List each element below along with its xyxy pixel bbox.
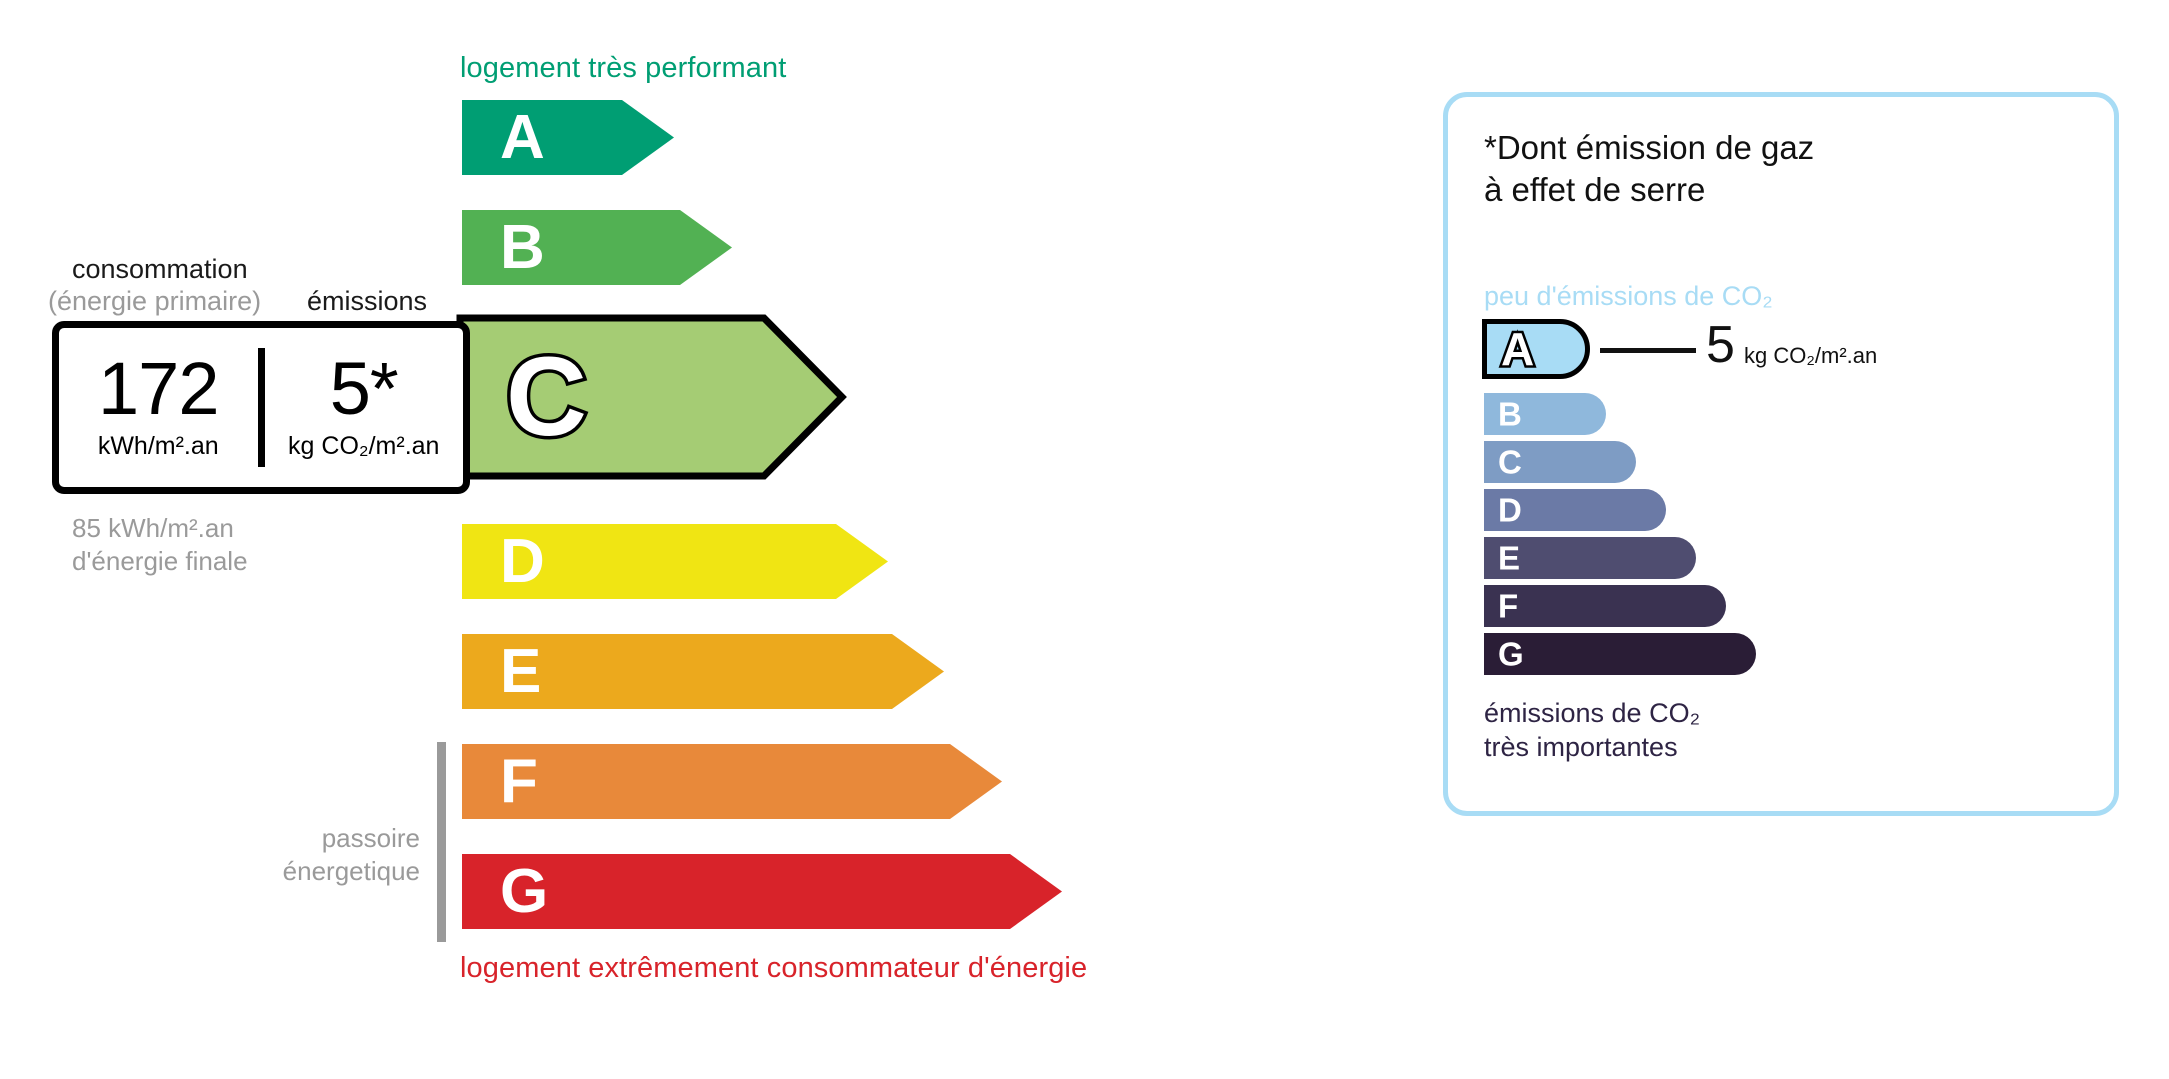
co2-bar-a-highlighted: A xyxy=(1482,319,1590,379)
final-energy-line-2: d'énergie finale xyxy=(72,545,248,578)
co2-bar-letter-g: G xyxy=(1498,638,1524,671)
energy-band-b: B xyxy=(462,210,732,285)
co2-bar-b: B xyxy=(1484,393,1606,435)
co2-title-line-2: à effet de serre xyxy=(1484,169,1814,211)
final-energy-note: 85 kWh/m².an d'énergie finale xyxy=(72,512,248,577)
top-caption: logement très performant xyxy=(460,52,786,85)
co2-bar-letter-d: D xyxy=(1498,494,1522,527)
energy-band-c: C xyxy=(460,318,842,476)
co2-footer-line-1: émissions de CO₂ xyxy=(1484,697,1700,731)
value-box: 172 kWh/m².an 5* kg CO₂/m².an xyxy=(52,321,470,494)
co2-bar-letter-b: B xyxy=(1498,398,1522,431)
energy-band-letter-b: B xyxy=(500,217,545,279)
passoire-marker-bar xyxy=(437,742,446,942)
energy-band-letter-a: A xyxy=(500,107,545,169)
consumption-value: 172 xyxy=(98,354,218,424)
co2-bar-g: G xyxy=(1484,633,1756,675)
energy-band-letter-d: D xyxy=(500,531,545,593)
consumption-header-sublabel: (énergie primaire) xyxy=(48,286,261,317)
emissions-header-label: émissions xyxy=(307,286,427,317)
energy-band-shape-a xyxy=(462,100,674,175)
passoire-label-wrap: passoire énergetique xyxy=(0,822,420,902)
emissions-cell: 5* kg CO₂/m².an xyxy=(265,328,464,487)
emissions-unit: kg CO₂/m².an xyxy=(288,432,439,461)
final-energy-line-1: 85 kWh/m².an xyxy=(72,512,248,545)
co2-bar-e: E xyxy=(1484,537,1696,579)
energy-band-shape-f xyxy=(462,744,1002,819)
passoire-line-1: passoire xyxy=(283,822,420,855)
co2-value: 5 xyxy=(1706,319,1735,371)
co2-subtitle: peu d'émissions de CO₂ xyxy=(1484,281,1773,312)
co2-title-line-1: *Dont émission de gaz xyxy=(1484,127,1814,169)
co2-bar-letter-c: C xyxy=(1498,446,1522,479)
co2-footer: émissions de CO₂ très importantes xyxy=(1484,697,1700,765)
energy-band-g: G xyxy=(462,854,1062,929)
consumption-cell: 172 kWh/m².an xyxy=(59,328,258,487)
energy-band-letter-g: G xyxy=(500,861,548,923)
bottom-caption: logement extrêmement consommateur d'éner… xyxy=(460,952,1087,985)
consumption-header-label: consommation xyxy=(72,254,248,285)
energy-band-shape-g xyxy=(462,854,1062,929)
value-box-divider xyxy=(258,348,265,467)
co2-panel: *Dont émission de gaz à effet de serre p… xyxy=(1443,92,2119,816)
co2-bar-a-letter: A xyxy=(1501,326,1534,372)
energy-band-letter-c: C xyxy=(506,341,587,453)
co2-bar-letter-f: F xyxy=(1498,590,1518,623)
energy-band-e: E xyxy=(462,634,944,709)
co2-footer-line-2: très importantes xyxy=(1484,731,1700,765)
co2-bar-d: D xyxy=(1484,489,1666,531)
energy-band-f: F xyxy=(462,744,1002,819)
energy-performance-chart: logement très performant consommation (é… xyxy=(0,0,1390,1079)
co2-bar-c: C xyxy=(1484,441,1636,483)
energy-band-a: A xyxy=(462,100,674,175)
emissions-value: 5* xyxy=(330,354,398,424)
co2-leader-line xyxy=(1600,348,1696,353)
consumption-unit: kWh/m².an xyxy=(98,432,219,461)
co2-bar-f: F xyxy=(1484,585,1726,627)
passoire-label: passoire énergetique xyxy=(283,822,420,887)
passoire-line-2: énergetique xyxy=(283,855,420,888)
co2-bar-letter-e: E xyxy=(1498,542,1520,575)
co2-panel-title: *Dont émission de gaz à effet de serre xyxy=(1484,127,1814,210)
energy-band-d: D xyxy=(462,524,888,599)
energy-band-letter-f: F xyxy=(500,751,538,813)
energy-band-letter-e: E xyxy=(500,641,541,703)
co2-unit: kg CO₂/m².an xyxy=(1744,343,1877,369)
